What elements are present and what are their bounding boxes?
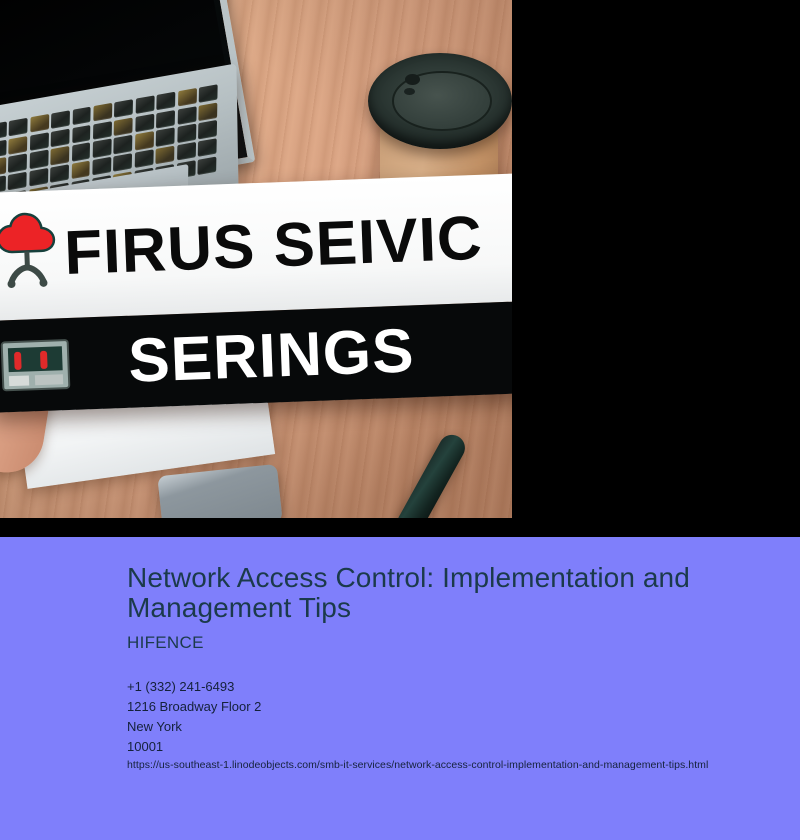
contact-postal-code: 10001 [127,737,261,757]
business-card-bottom-band: SERINGS [0,301,512,413]
business-card-line1: FIRUS SEIVIC [63,208,484,285]
hero-image: FIRUS SEIVIC SERINGS [0,0,512,518]
business-card: FIRUS SEIVIC SERINGS [0,173,512,413]
contact-city: New York [127,717,261,737]
business-card-top-band: FIRUS SEIVIC [0,173,512,321]
page-title: Network Access Control: Implementation a… [127,563,737,623]
server-rack-icon [0,336,71,395]
red-cloud-logo-icon [0,206,66,305]
contact-address-line1: 1216 Broadway Floor 2 [127,697,261,717]
source-url[interactable]: https://us-southeast-1.linodeobjects.com… [127,759,708,771]
page-title-block: Network Access Control: Implementation a… [127,563,737,623]
content-panel: Network Access Control: Implementation a… [0,537,800,840]
business-card-line2: SERINGS [127,320,415,392]
coffee-cup-lid-icon [368,53,512,149]
organization-name: HIFENCE [127,633,204,653]
contact-details: +1 (332) 241-6493 1216 Broadway Floor 2 … [127,677,261,757]
contact-phone: +1 (332) 241-6493 [127,677,261,697]
